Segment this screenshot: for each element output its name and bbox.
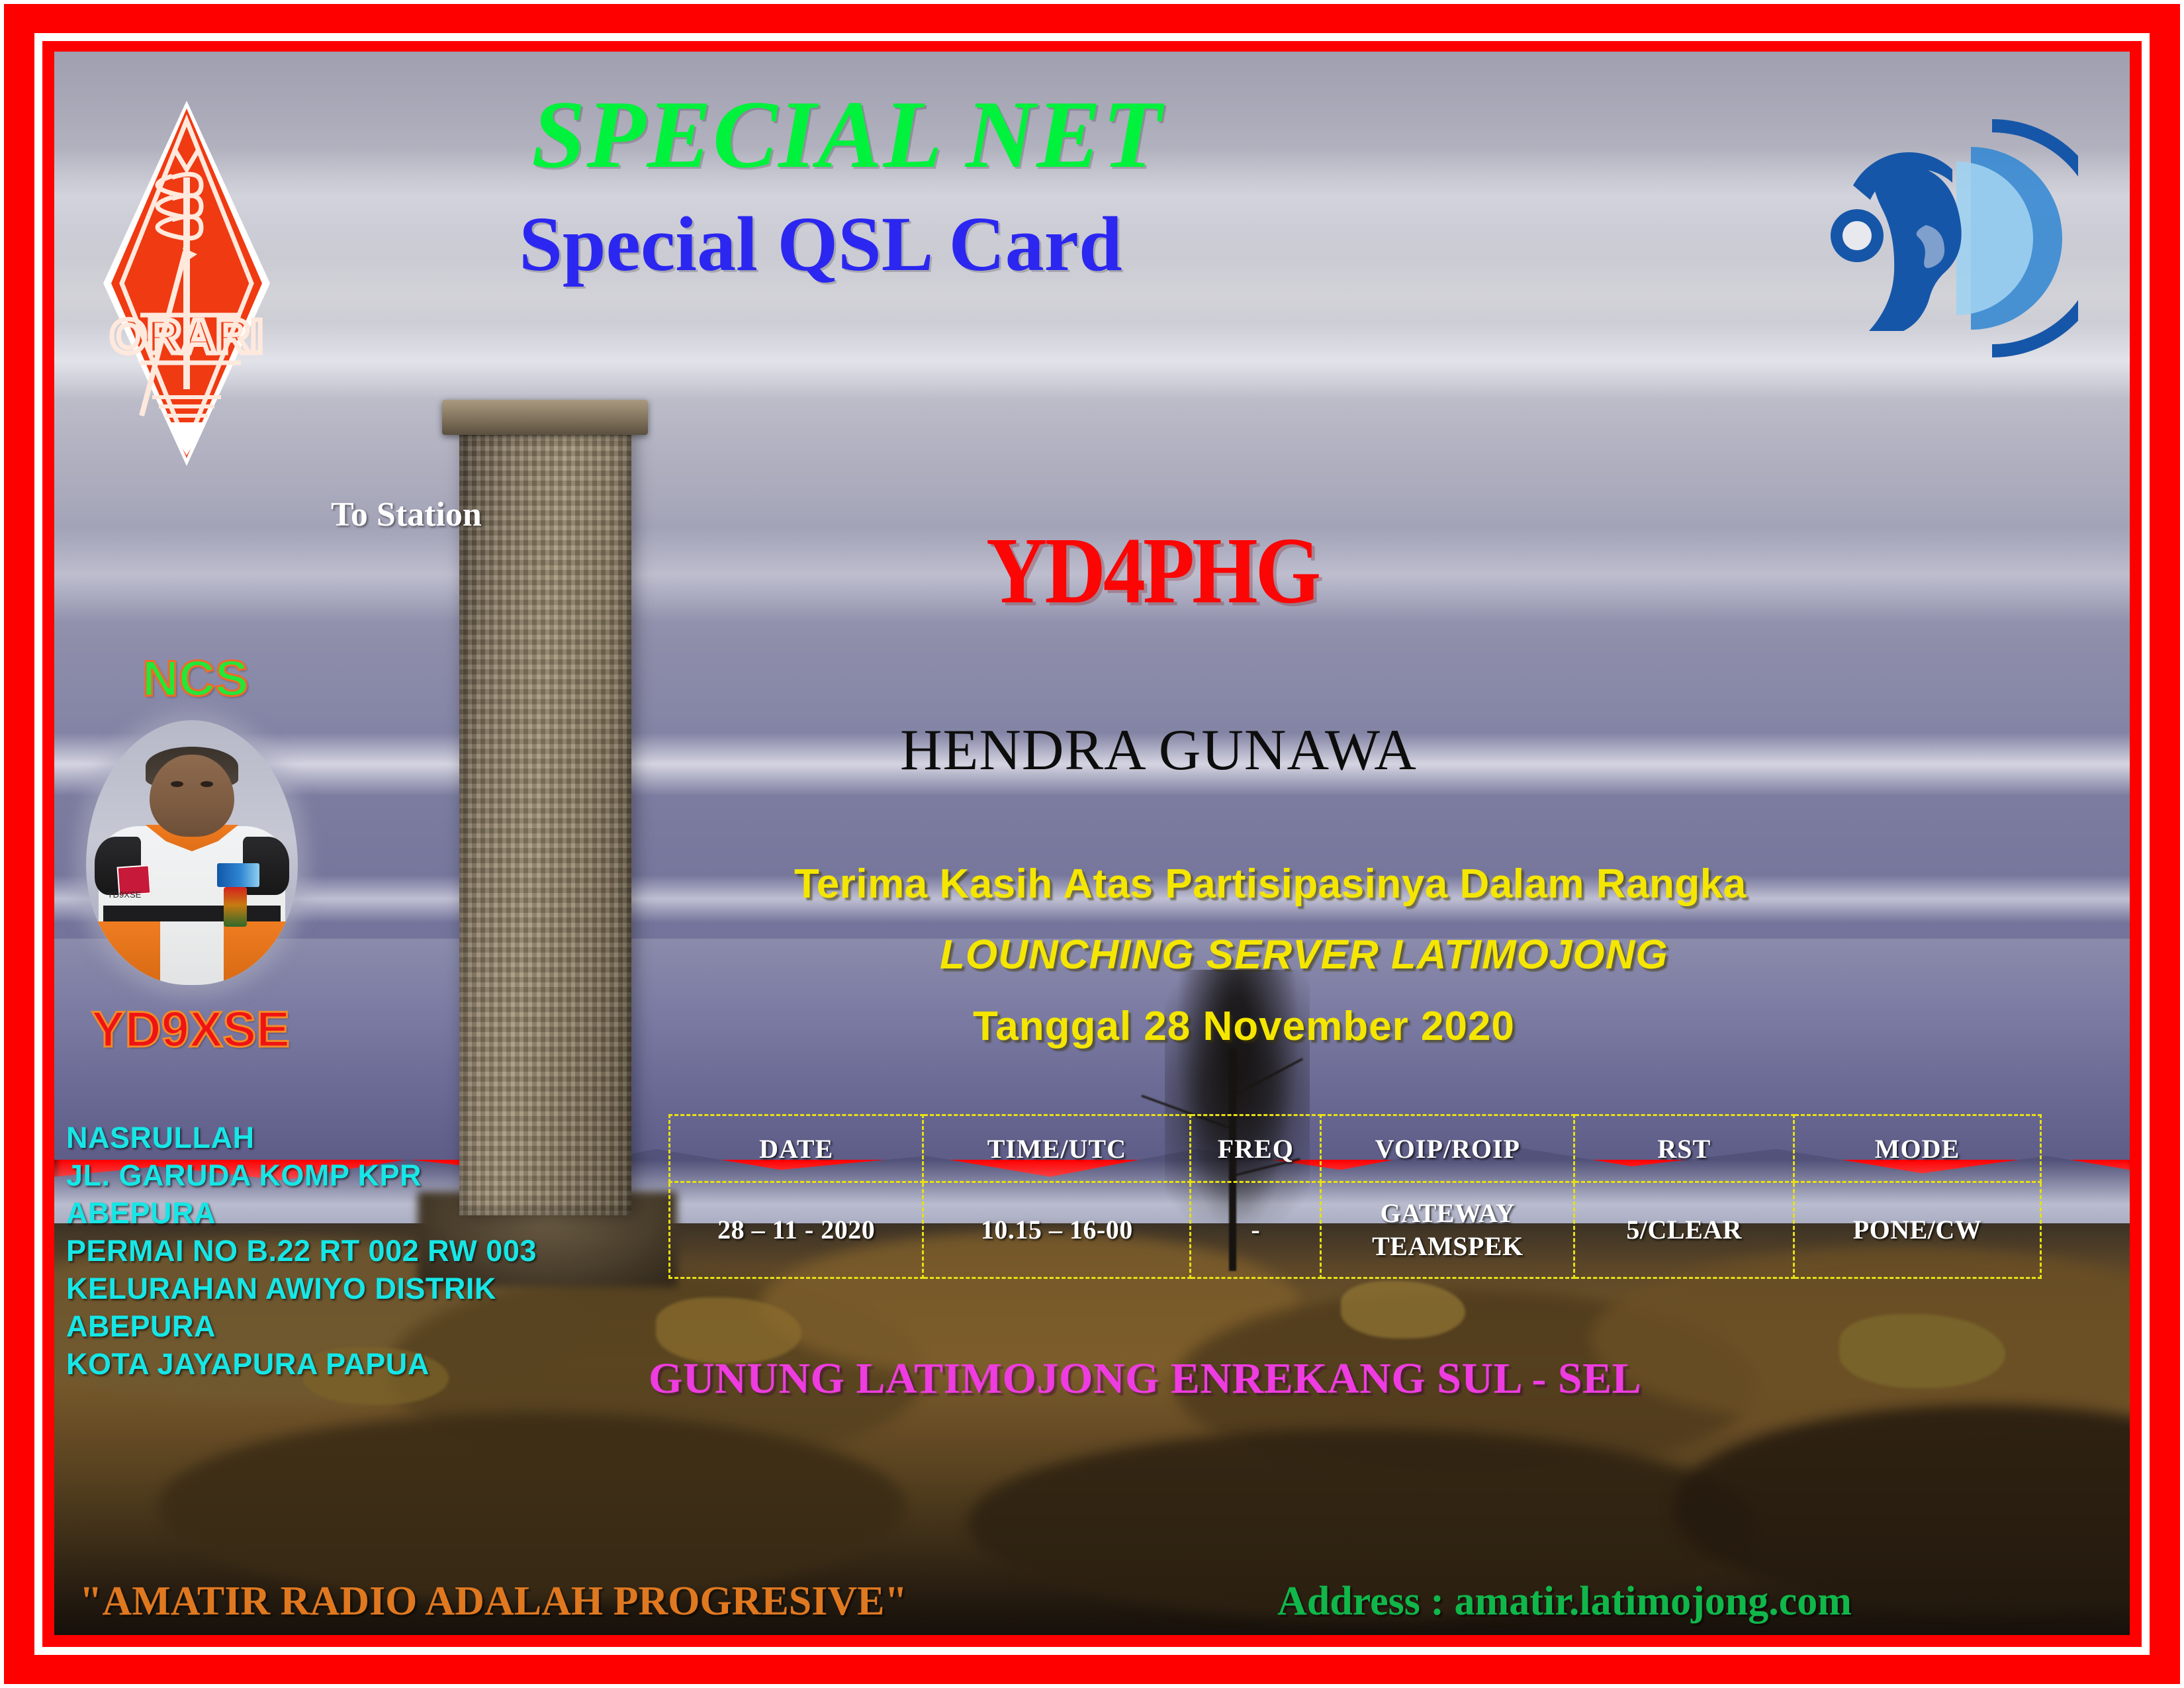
address-line: KELURAHAN AWIYO DISTRIK — [66, 1270, 537, 1307]
address-line: ABEPURA — [66, 1307, 537, 1345]
table-row: 28 – 11 - 2020 10.15 – 16-00 - GATEWAY T… — [670, 1182, 2041, 1278]
radio-headset-wave-logo — [1827, 113, 2078, 364]
cell-voip-line2: TEAMSPEK — [1322, 1230, 1572, 1263]
ncs-callsign: YD9XSE — [91, 1005, 290, 1055]
cell-date: 28 – 11 - 2020 — [670, 1182, 923, 1278]
cell-rst: 5/CLEAR — [1574, 1182, 1794, 1278]
photo-face — [150, 755, 234, 837]
table-header-freq: FREQ — [1191, 1115, 1321, 1182]
slogan-text: "AMATIR RADIO ADALAH PROGRESIVE" — [79, 1581, 907, 1622]
table-header-date: DATE — [670, 1115, 923, 1182]
photo-orange-panel-left — [97, 921, 160, 985]
thanks-line-3: Tanggal 28 November 2020 — [973, 1006, 1515, 1047]
event-location: GUNUNG LATIMOJONG ENREKANG SUL - SEL — [649, 1357, 1641, 1401]
thanks-line-1: Terima Kasih Atas Partisipasinya Dalam R… — [794, 864, 1747, 905]
thanks-line-2: LOUNCHING SERVER LATIMOJONG — [940, 935, 1668, 976]
cell-time: 10.15 – 16-00 — [923, 1182, 1191, 1278]
photo-belt — [103, 906, 281, 921]
table-header-row: DATE TIME/UTC FREQ VOIP/ROIP RST MODE — [670, 1115, 2041, 1182]
photo-orange-panel-right — [224, 921, 287, 985]
cell-voip: GATEWAY TEAMSPEK — [1321, 1182, 1574, 1278]
to-station-label: To Station — [331, 498, 482, 532]
photo-eye-right — [201, 781, 213, 787]
address-line: KOTA JAYAPURA PAPUA — [66, 1345, 537, 1383]
address-line: JL. GARUDA KOMP KPR — [66, 1156, 537, 1194]
photo-id-lanyard — [224, 887, 247, 927]
stone-monument — [459, 424, 631, 1215]
qsl-card: ORARI SPECIAL NET Special QSL Card To St… — [0, 0, 2184, 1688]
qso-details-table: DATE TIME/UTC FREQ VOIP/ROIP RST MODE 28… — [668, 1114, 2042, 1279]
table-header-rst: RST — [1574, 1115, 1794, 1182]
ncs-label: NCS — [142, 654, 248, 704]
address-line: PERMAI NO B.22 RT 002 RW 003 — [66, 1232, 537, 1270]
cell-voip-line1: GATEWAY — [1322, 1197, 1572, 1230]
page-title: SPECIAL NET — [0, 86, 1694, 183]
ncs-postal-address: NASRULLAH JL. GARUDA KOMP KPR ABEPURA PE… — [66, 1119, 537, 1383]
table-header-mode: MODE — [1794, 1115, 2041, 1182]
cell-mode: PONE/CW — [1794, 1182, 2041, 1278]
table-header-time: TIME/UTC — [923, 1115, 1191, 1182]
table-header-voip: VOIP/ROIP — [1321, 1115, 1574, 1182]
address-line: NASRULLAH — [66, 1119, 537, 1156]
operator-name: HENDRA GUNAWA — [900, 722, 1417, 780]
monument-cap — [442, 400, 647, 435]
photo-eye-left — [171, 781, 183, 787]
web-address: Address : amatir.latimojong.com — [1277, 1581, 1852, 1622]
photo-chest-badge — [217, 863, 259, 887]
operator-photo: YD9XSE — [86, 720, 298, 985]
address-line: ABEPURA — [66, 1194, 537, 1232]
photo-shirt-callsign: YD9XSE — [107, 890, 141, 900]
page-subtitle: Special QSL Card — [0, 205, 1641, 283]
cell-freq: - — [1191, 1182, 1321, 1278]
orari-logo-text: ORARI — [110, 310, 263, 363]
station-callsign: YD4PHG — [986, 523, 1318, 618]
